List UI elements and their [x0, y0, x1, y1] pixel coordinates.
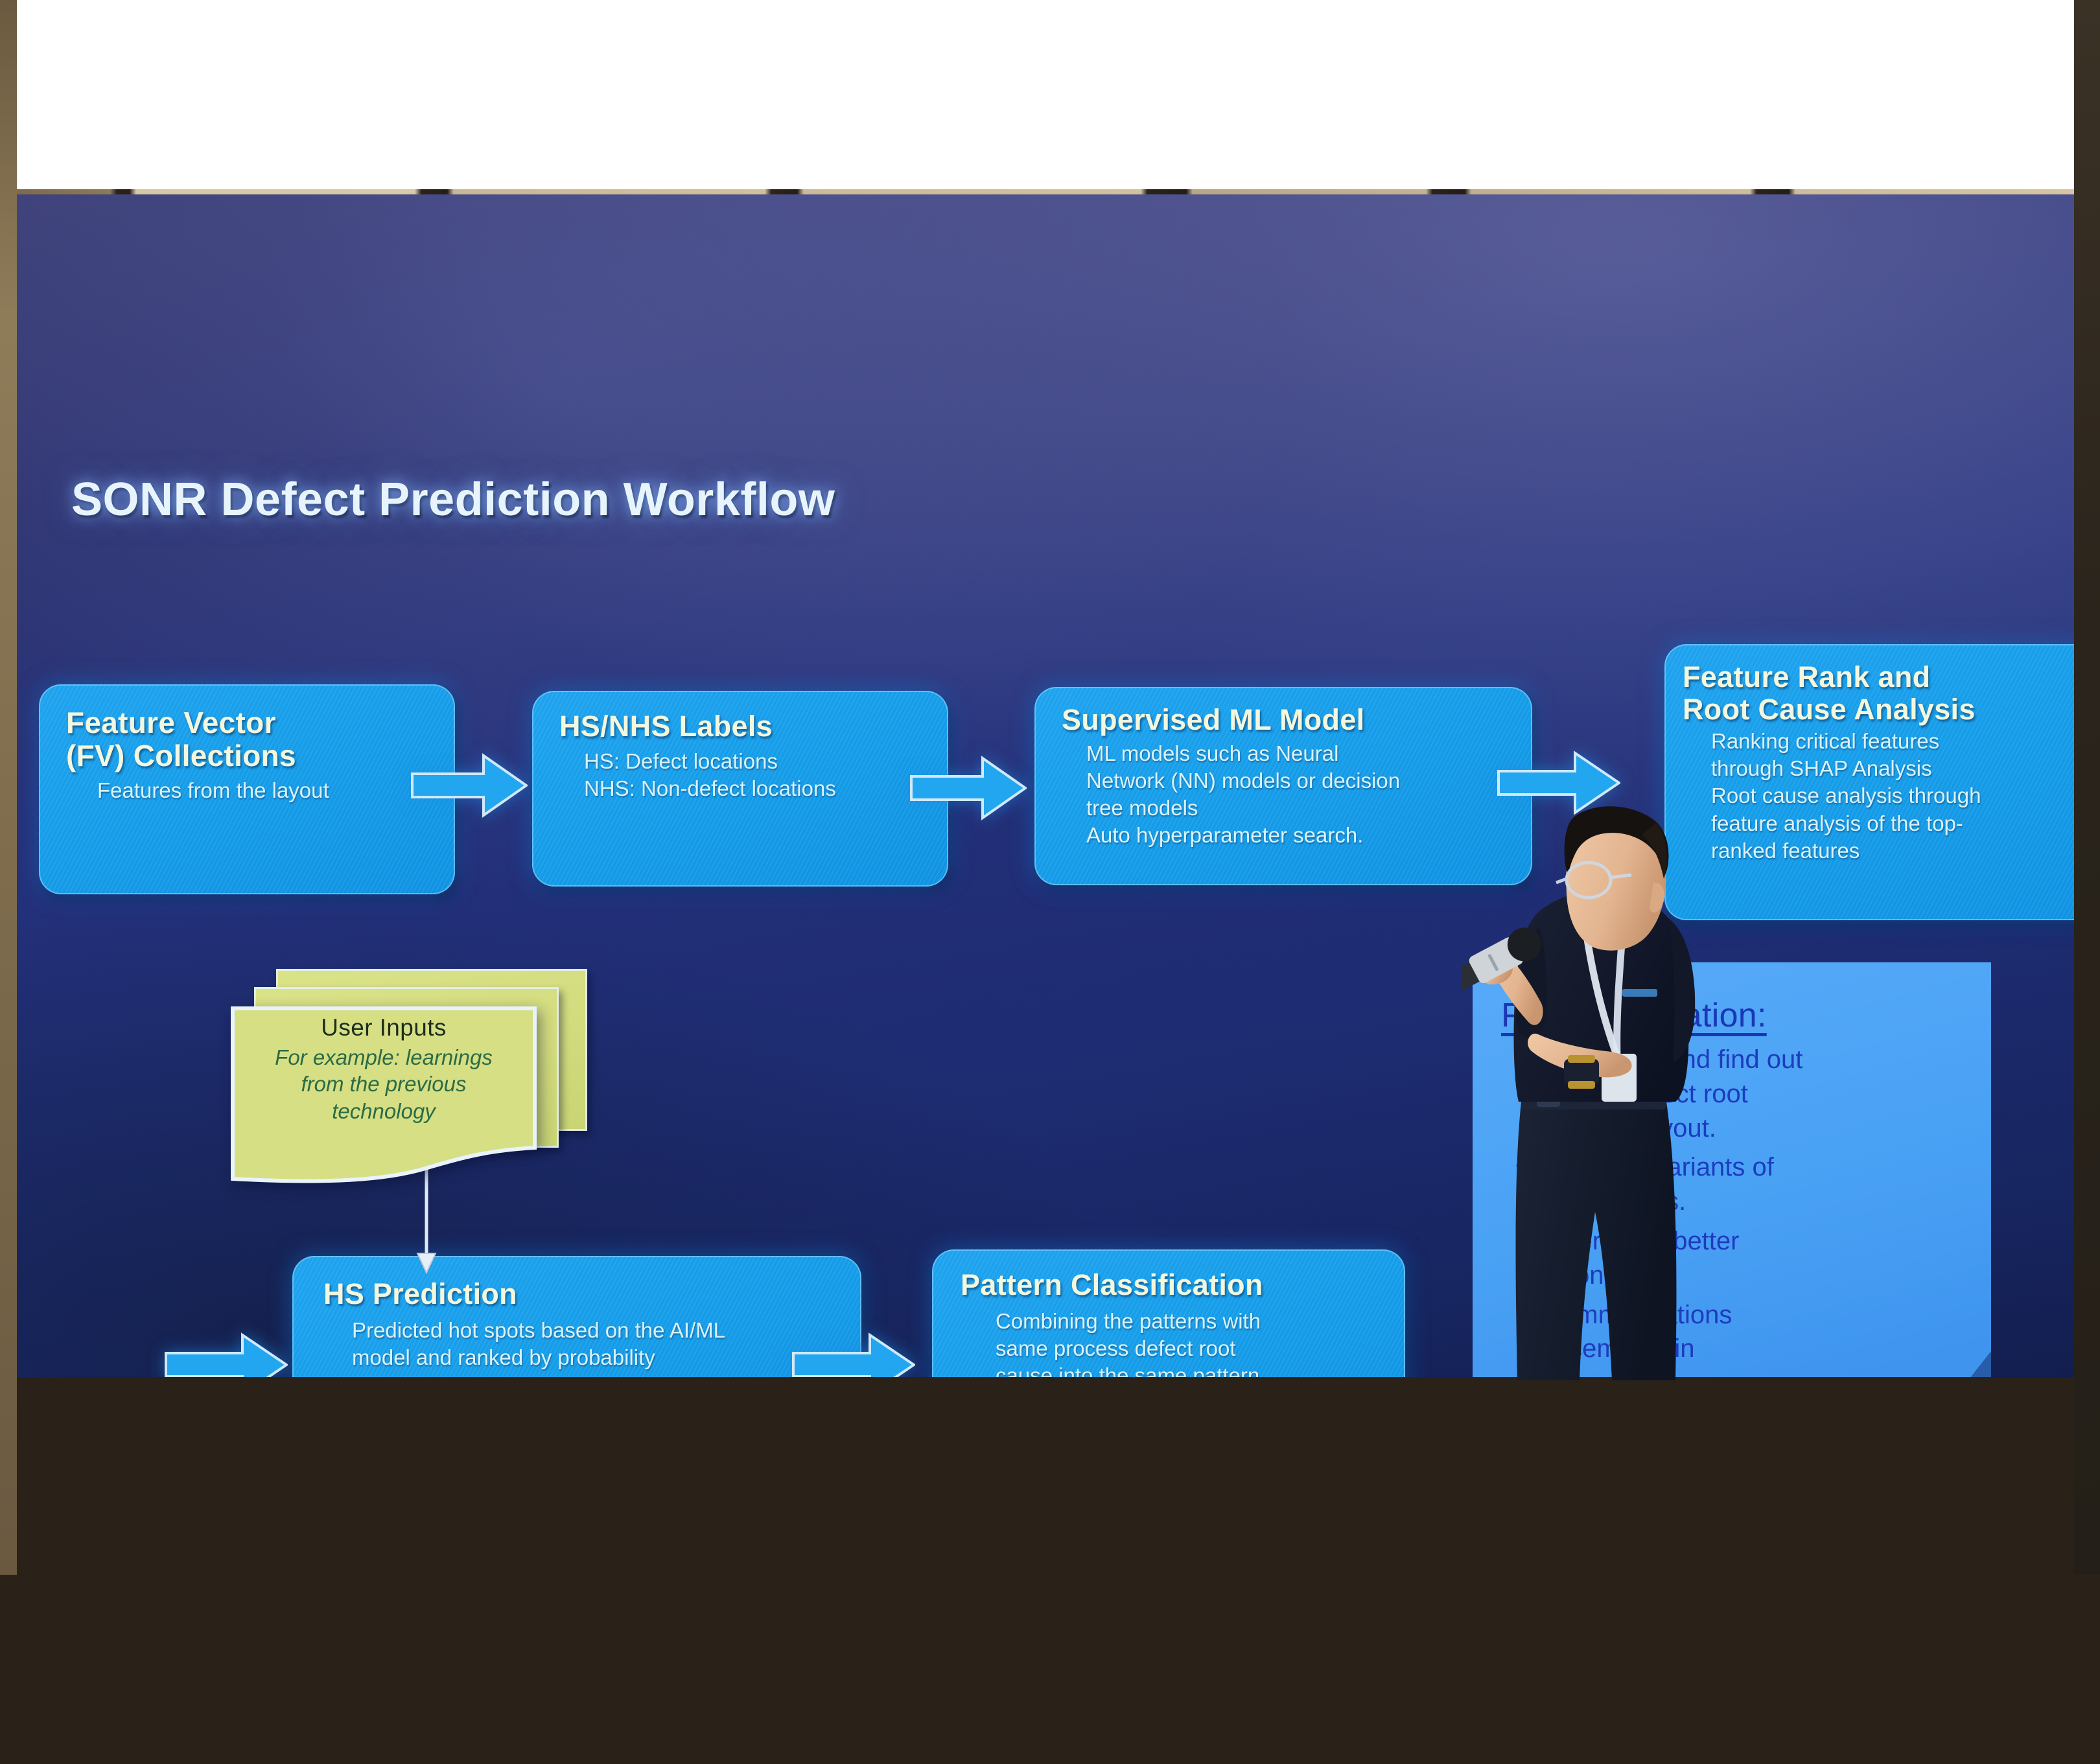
arrow-right-icon: [165, 1331, 288, 1377]
flow-box-pattern-classification[interactable]: Pattern Classification Combining the pat…: [932, 1249, 1405, 1377]
wall-right-edge: [2074, 0, 2100, 1575]
conference-photo: SONR Defect Prediction Workflow Feature …: [0, 0, 2100, 1575]
presenter-figure: [1462, 797, 1747, 1380]
flow-box-heading: HS Prediction: [323, 1278, 842, 1310]
heading-line-2: (FV) Collections: [66, 739, 296, 772]
list-item: HS: Defect locations: [584, 748, 929, 775]
list-item: Auto hyperparameter search.: [1086, 822, 1515, 849]
list-item: Features from the layout: [97, 777, 434, 804]
flow-box-supervised-ml-model[interactable]: Supervised ML Model ML models such as Ne…: [1034, 687, 1532, 885]
list-item: through SHAP Analysis: [1711, 755, 2074, 782]
flow-box-heading: Pattern Classification: [961, 1269, 1388, 1301]
list-item: Predicted hot spots based on the AI/ML: [352, 1317, 842, 1344]
list-item: NHS: Non-defect locations: [584, 775, 929, 802]
flow-box-bullets: Features from the layout: [66, 777, 434, 804]
flow-box-hs-prediction[interactable]: HS Prediction Predicted hot spots based …: [292, 1256, 861, 1377]
flow-box-heading: Feature Vector (FV) Collections: [66, 706, 434, 772]
list-item: feature analysis of the top-: [1711, 810, 2074, 837]
flow-box-bullets: Predicted hot spots based on the AI/ML m…: [323, 1317, 842, 1371]
flow-box-bullets: Combining the patterns with same process…: [961, 1308, 1388, 1378]
page-title: SONR Defect Prediction Workflow: [71, 473, 835, 526]
list-item: Combining the patterns with: [996, 1308, 1388, 1335]
heading-line-1: Feature Vector: [66, 706, 276, 739]
flow-box-bullets: HS: Defect locations NHS: Non-defect loc…: [559, 748, 929, 802]
flow-box-heading: Feature Rank and Root Cause Analysis: [1683, 661, 2074, 725]
flow-box-heading: HS/NHS Labels: [559, 710, 929, 743]
flow-box-bullets: ML models such as Neural Network (NN) mo…: [1062, 740, 1515, 850]
heading-line-1: Feature Rank and: [1683, 660, 1930, 693]
flow-box-heading: Supervised ML Model: [1062, 704, 1515, 736]
list-item: ranked features: [1711, 837, 2074, 865]
flow-box-feature-vector[interactable]: Feature Vector (FV) Collections Features…: [39, 684, 455, 894]
list-item: Network (NN) models or decision: [1086, 767, 1515, 795]
list-item: Ranking critical features: [1711, 728, 2074, 755]
list-item: model and ranked by probability: [352, 1344, 842, 1371]
user-inputs-sticky-notes[interactable]: User Inputs For example: learnings from …: [231, 969, 607, 1205]
list-item: cause into the same pattern: [996, 1362, 1388, 1377]
flow-box-hs-nhs-labels[interactable]: HS/NHS Labels HS: Defect locations NHS: …: [532, 691, 948, 887]
sticky-note-front: [231, 1006, 537, 1185]
list-item: tree models: [1086, 795, 1515, 822]
wall-left-edge: [0, 0, 17, 1575]
projected-slide: SONR Defect Prediction Workflow Feature …: [17, 194, 2074, 1377]
list-item: ML models such as Neural: [1086, 740, 1515, 767]
list-item: Root cause analysis through: [1711, 782, 2074, 809]
flow-box-bullets: Ranking critical features through SHAP A…: [1683, 728, 2074, 865]
list-item: same process defect root: [996, 1335, 1388, 1362]
heading-line-2: Root Cause Analysis: [1683, 693, 1976, 726]
